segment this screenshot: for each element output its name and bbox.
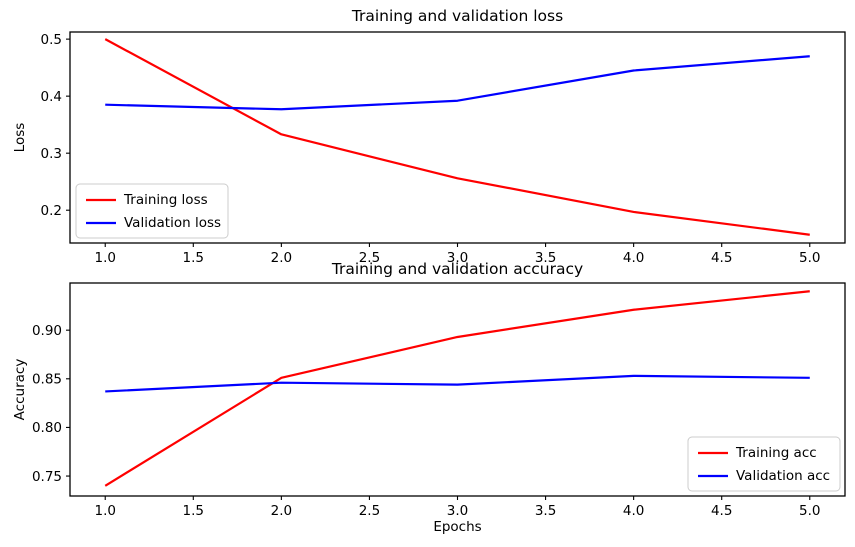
x-tick-label: 5.0 [799, 250, 820, 266]
x-tick-label: 4.0 [623, 503, 644, 519]
y-tick-label: 0.4 [41, 89, 62, 105]
x-tick-label: 2.0 [271, 250, 292, 266]
y-tick-label: 0.85 [32, 372, 62, 388]
x-tick-label: 2.5 [359, 503, 380, 519]
y-tick-label: 0.2 [41, 203, 62, 219]
x-tick-label: 1.5 [183, 503, 204, 519]
legend-loss[interactable]: Training lossValidation loss [76, 184, 228, 238]
x-tick-label: 1.0 [94, 503, 115, 519]
plot-title: Training and validation loss [351, 7, 563, 25]
x-axis-label: Epochs [433, 519, 481, 535]
legend-label-validation-loss: Validation loss [124, 215, 221, 231]
x-tick-label: 3.0 [447, 503, 468, 519]
y-tick-label: 0.75 [32, 469, 62, 485]
plot-title: Training and validation accuracy [331, 260, 583, 278]
y-tick-label: 0.80 [32, 420, 62, 436]
y-tick-label: 0.3 [41, 146, 62, 162]
x-tick-label: 5.0 [799, 503, 820, 519]
x-tick-label: 3.5 [535, 503, 556, 519]
y-axis-label: Accuracy [12, 359, 28, 421]
legend-label-training-loss: Training loss [123, 192, 208, 208]
y-axis-label: Loss [12, 123, 28, 153]
y-tick-label: 0.5 [41, 32, 62, 48]
matplotlib-figure: Training and validation loss1.01.52.02.5… [0, 0, 855, 547]
x-tick-label: 4.5 [711, 503, 732, 519]
y-tick-label: 0.90 [32, 323, 62, 339]
x-tick-label: 1.0 [94, 250, 115, 266]
x-tick-label: 4.0 [623, 250, 644, 266]
x-tick-label: 2.0 [271, 503, 292, 519]
x-tick-label: 4.5 [711, 250, 732, 266]
legend-label-training-acc: Training acc [735, 445, 817, 461]
legend-label-validation-acc: Validation acc [736, 468, 830, 484]
figure-canvas: Training and validation loss1.01.52.02.5… [0, 0, 855, 547]
legend-accuracy[interactable]: Training accValidation acc [688, 437, 840, 491]
x-tick-label: 1.5 [183, 250, 204, 266]
